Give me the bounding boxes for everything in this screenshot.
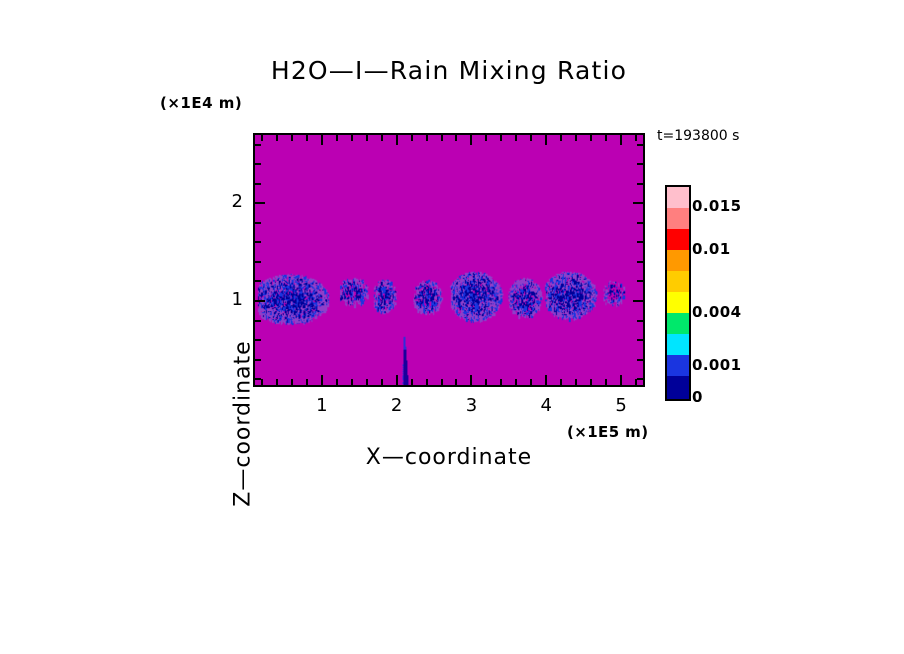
x-minor-tick-top <box>500 134 502 141</box>
x-minor-tick-top <box>291 134 293 141</box>
x-minor-tick-top <box>336 134 338 141</box>
y-tick-label: 2 <box>203 191 243 212</box>
colorbar-tick-label: 0 <box>692 388 703 406</box>
x-minor-tick <box>381 379 383 386</box>
colorbar-band <box>667 334 689 355</box>
colorbar-band <box>667 355 689 376</box>
x-minor-tick-top <box>276 134 278 141</box>
x-tick-label: 3 <box>451 395 491 416</box>
y-minor-tick-right <box>637 261 644 263</box>
x-minor-tick-top <box>530 134 532 141</box>
heatmap-canvas <box>255 135 643 385</box>
y-minor-tick <box>254 241 261 243</box>
y-minor-tick <box>254 261 261 263</box>
y-major-tick-right <box>633 300 644 302</box>
x-minor-tick-top <box>261 134 263 141</box>
x-axis-title: X—coordinate <box>253 445 645 470</box>
y-tick-label: 1 <box>203 289 243 310</box>
colorbar-band <box>667 250 689 271</box>
x-minor-tick-top <box>411 134 413 141</box>
y-minor-tick <box>254 280 261 282</box>
x-minor-tick-top <box>605 134 607 141</box>
x-major-tick <box>620 375 622 386</box>
x-minor-tick <box>411 379 413 386</box>
colorbar-band <box>667 208 689 229</box>
y-major-tick <box>254 300 265 302</box>
figure-canvas: H2O—I—Rain Mixing Ratio (×1E4 m) t=19380… <box>0 0 904 654</box>
x-minor-tick <box>351 379 353 386</box>
colorbar-tick-label: 0.01 <box>692 240 731 258</box>
colorbar-band <box>667 271 689 292</box>
y-minor-tick <box>254 222 261 224</box>
x-major-tick-top <box>545 134 547 145</box>
colorbar-band <box>667 229 689 250</box>
x-minor-tick-top <box>560 134 562 141</box>
colorbar-band <box>667 313 689 334</box>
x-minor-tick <box>500 379 502 386</box>
y-minor-tick <box>254 183 261 185</box>
y-minor-tick-right <box>637 222 644 224</box>
y-minor-tick-right <box>637 163 644 165</box>
x-minor-tick <box>261 379 263 386</box>
x-minor-tick <box>605 379 607 386</box>
x-minor-tick <box>276 379 278 386</box>
x-minor-tick <box>575 379 577 386</box>
y-minor-tick-right <box>637 183 644 185</box>
x-minor-tick <box>306 379 308 386</box>
x-minor-tick <box>426 379 428 386</box>
x-minor-tick-top <box>441 134 443 141</box>
y-minor-tick-right <box>637 280 644 282</box>
x-major-tick-top <box>620 134 622 145</box>
colorbar-band <box>667 376 689 399</box>
x-minor-tick <box>366 379 368 386</box>
x-tick-label: 5 <box>601 395 641 416</box>
x-minor-tick <box>441 379 443 386</box>
x-minor-tick <box>590 379 592 386</box>
x-minor-tick-top <box>426 134 428 141</box>
x-minor-tick <box>336 379 338 386</box>
colorbar-tick-label: 0.015 <box>692 197 741 215</box>
colorbar-tick-label: 0.001 <box>692 356 741 374</box>
colorbar <box>665 185 691 401</box>
x-minor-tick-top <box>306 134 308 141</box>
y-minor-tick-right <box>637 144 644 146</box>
x-major-tick-top <box>396 134 398 145</box>
y-minor-tick-right <box>637 359 644 361</box>
x-minor-tick <box>455 379 457 386</box>
x-tick-label: 1 <box>302 395 342 416</box>
x-minor-tick <box>530 379 532 386</box>
time-annotation: t=193800 s <box>657 128 739 144</box>
y-minor-tick-right <box>637 378 644 380</box>
colorbar-band <box>667 187 689 208</box>
page-title: H2O—I—Rain Mixing Ratio <box>253 56 645 85</box>
x-major-tick-top <box>470 134 472 145</box>
y-minor-tick-right <box>637 339 644 341</box>
plot-area <box>253 133 645 387</box>
x-minor-tick-top <box>351 134 353 141</box>
y-axis-title: Z—coordinate <box>231 319 256 529</box>
y-minor-tick <box>254 144 261 146</box>
x-major-tick <box>470 375 472 386</box>
x-minor-tick <box>515 379 517 386</box>
x-major-tick <box>396 375 398 386</box>
x-major-tick <box>545 375 547 386</box>
x-minor-tick-top <box>485 134 487 141</box>
x-minor-tick-top <box>590 134 592 141</box>
x-minor-tick <box>485 379 487 386</box>
x-tick-label: 2 <box>377 395 417 416</box>
colorbar-tick-label: 0.004 <box>692 303 741 321</box>
x-minor-tick-top <box>366 134 368 141</box>
x-major-tick <box>321 375 323 386</box>
y-major-tick-right <box>633 202 644 204</box>
y-major-tick <box>254 202 265 204</box>
x-minor-tick <box>560 379 562 386</box>
y-minor-tick <box>254 163 261 165</box>
y-axis-unit-label: (×1E4 m) <box>160 94 242 112</box>
x-minor-tick <box>291 379 293 386</box>
y-minor-tick-right <box>637 241 644 243</box>
x-minor-tick-top <box>635 134 637 141</box>
x-minor-tick-top <box>515 134 517 141</box>
x-minor-tick-top <box>575 134 577 141</box>
x-tick-label: 4 <box>526 395 566 416</box>
x-minor-tick-top <box>381 134 383 141</box>
colorbar-band <box>667 292 689 313</box>
x-axis-unit-label: (×1E5 m) <box>567 423 648 441</box>
x-major-tick-top <box>321 134 323 145</box>
x-minor-tick-top <box>455 134 457 141</box>
y-minor-tick-right <box>637 320 644 322</box>
x-minor-tick <box>635 379 637 386</box>
